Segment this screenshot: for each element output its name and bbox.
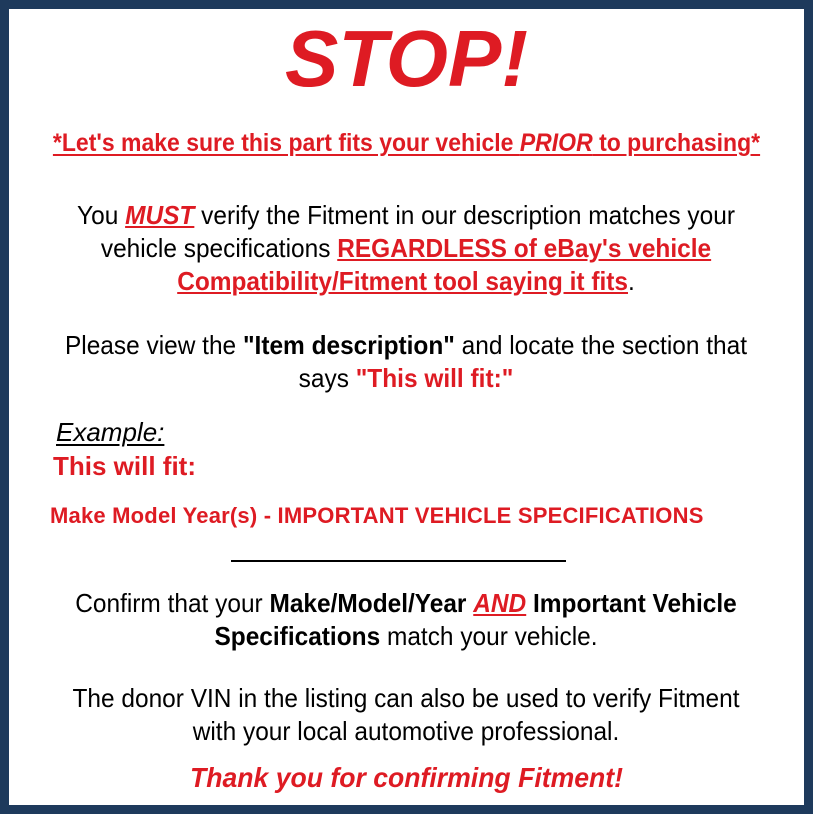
confirm-seg-5: match your vehicle.: [380, 621, 597, 651]
please-seg-1: Please view the: [65, 330, 243, 360]
subtitle-after: to purchasing*: [593, 129, 760, 157]
example-spec-line: Make Model Year(s) - IMPORTANT VEHICLE S…: [50, 502, 704, 529]
subtitle-prior-emphasis: PRIOR: [520, 129, 593, 157]
page-title: STOP!: [9, 13, 804, 105]
please-view-paragraph: Please view the "Item description" and l…: [49, 329, 763, 395]
item-description-emphasis: "Item description": [243, 330, 455, 360]
this-will-fit-quote: "This will fit:": [356, 363, 514, 393]
donor-vin-paragraph: The donor VIN in the listing can also be…: [49, 682, 763, 748]
must-verify-paragraph: You MUST verify the Fitment in our descr…: [49, 199, 763, 298]
thank-you-line: Thank you for confirming Fitment!: [29, 761, 784, 795]
make-model-year-emphasis: Make/Model/Year: [269, 588, 466, 618]
fitment-notice-page: STOP! *Let's make sure this part fits yo…: [0, 0, 813, 814]
section-divider: [231, 560, 566, 562]
must-seg-1: You: [77, 200, 125, 230]
must-seg-5: .: [628, 266, 635, 296]
must-emphasis: MUST: [125, 200, 194, 230]
confirm-space-1: [466, 588, 473, 618]
confirm-seg-1: Confirm that your: [75, 588, 269, 618]
notice-content: STOP! *Let's make sure this part fits yo…: [9, 9, 804, 805]
example-label: Example:: [56, 417, 164, 448]
example-fit-header: This will fit:: [53, 451, 196, 482]
and-emphasis: AND: [473, 588, 526, 618]
confirm-paragraph: Confirm that your Make/Model/Year AND Im…: [49, 587, 763, 653]
subtitle-warning: *Let's make sure this part fits your veh…: [41, 128, 772, 159]
subtitle-before: *Let's make sure this part fits your veh…: [53, 129, 520, 157]
